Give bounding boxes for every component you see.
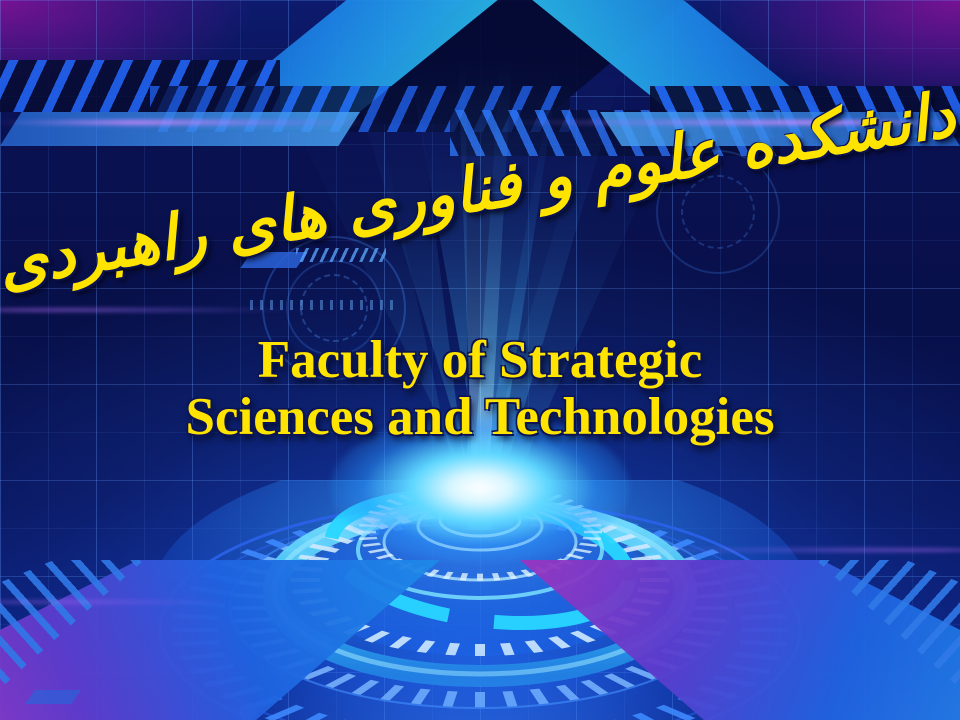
top-left-light-slab (0, 112, 360, 146)
deco-block (25, 690, 81, 704)
slide-canvas: دانشکده علوم و فناوری های راهبردی Facult… (0, 0, 960, 720)
faculty-title-english: Faculty of Strategic Sciences and Techno… (0, 332, 960, 446)
light-streak (0, 308, 310, 312)
faculty-title-english-line1: Faculty of Strategic (0, 332, 960, 389)
light-streak (620, 548, 960, 552)
faculty-title-english-line2: Sciences and Technologies (0, 389, 960, 446)
light-streak (0, 120, 390, 125)
